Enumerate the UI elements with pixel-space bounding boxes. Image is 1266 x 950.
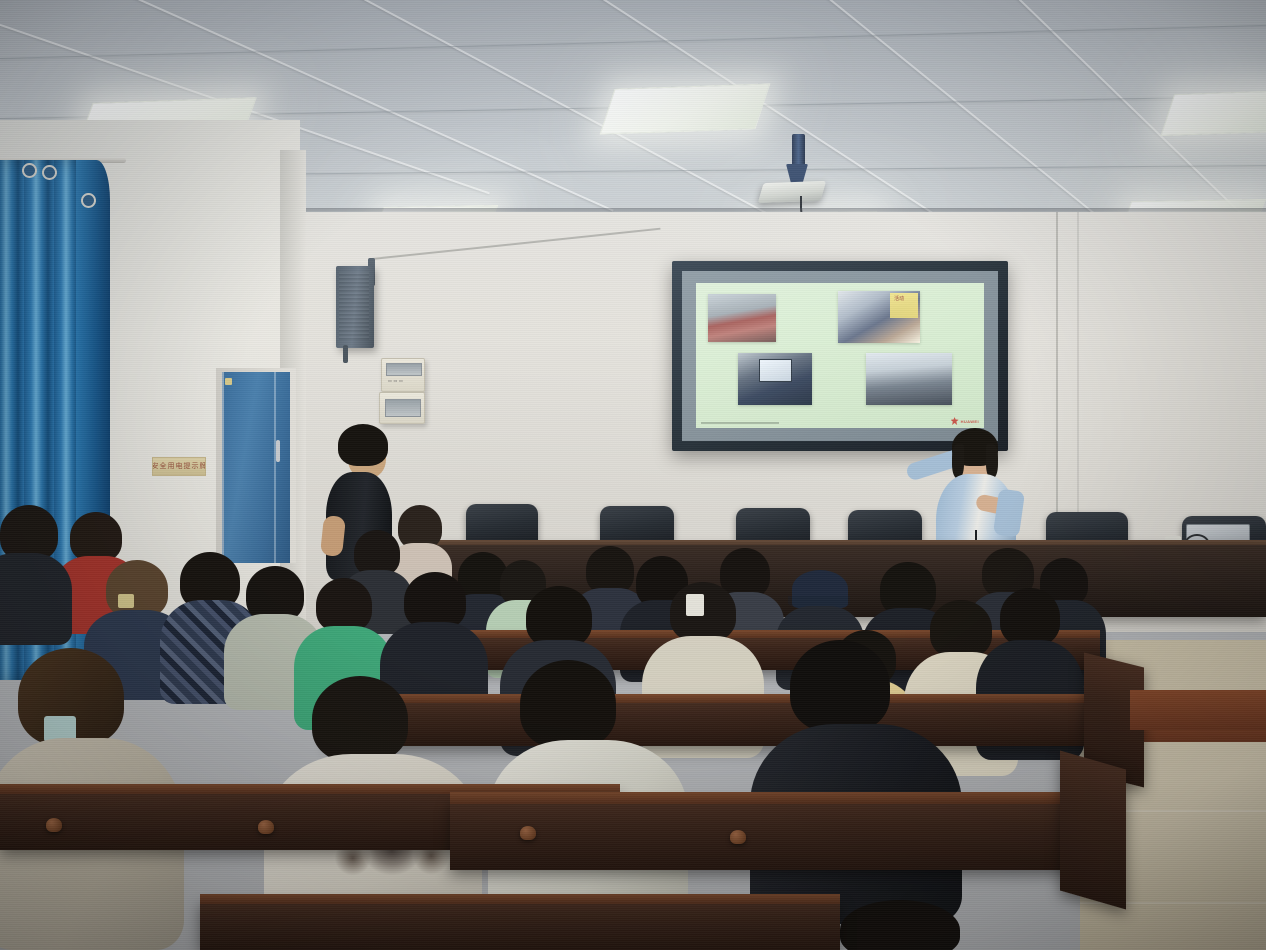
plaque-char: 牌 bbox=[200, 463, 207, 470]
slide-caption-bar bbox=[701, 422, 779, 424]
audience-bench-row bbox=[200, 900, 840, 950]
audience-hair bbox=[1000, 588, 1060, 646]
audience-torso bbox=[0, 553, 72, 645]
curtain-grommet bbox=[22, 163, 37, 178]
bench-knob bbox=[730, 830, 746, 844]
hair-clip bbox=[118, 594, 134, 608]
audience-hair bbox=[520, 660, 616, 748]
bench-rail bbox=[400, 630, 1100, 638]
banner-text: 活动 bbox=[894, 297, 904, 302]
presenter-sleeve bbox=[993, 488, 1025, 537]
slide-inner-screen bbox=[759, 359, 792, 382]
bench-front-panel bbox=[1130, 690, 1266, 730]
slide-photo-4 bbox=[866, 353, 952, 405]
audience-hair bbox=[720, 548, 770, 598]
hair-clip bbox=[686, 594, 704, 616]
bench-knob bbox=[46, 818, 62, 832]
plaque-char: 电 bbox=[176, 463, 183, 470]
presenter-hair-side bbox=[986, 444, 998, 478]
slide-photo-2: 活动 bbox=[838, 291, 920, 343]
audience-hair bbox=[790, 640, 890, 732]
projector-mount-pole bbox=[792, 134, 805, 168]
plaque-char: 全 bbox=[160, 463, 167, 470]
lecture-hall-photo: 安 全 用 电 提 示 牌 ▭ ▭ ▭ 活动 bbox=[0, 0, 1266, 950]
bench-knob bbox=[258, 820, 274, 834]
curtain-grommet bbox=[42, 165, 57, 180]
ceiling-light-panel bbox=[1160, 90, 1266, 136]
plaque-char: 用 bbox=[168, 463, 175, 470]
audience-bench-row bbox=[450, 800, 1110, 870]
audience-hair bbox=[312, 676, 408, 762]
audience-hair bbox=[586, 546, 634, 594]
curtain-grommet bbox=[81, 193, 96, 208]
audience-bench-row bbox=[330, 700, 1110, 746]
bench-rail bbox=[200, 894, 840, 904]
wall-plaque: 安 全 用 电 提 示 牌 bbox=[152, 457, 206, 476]
huawei-logo-text: HUAWEI bbox=[961, 419, 979, 424]
slide-photo-1 bbox=[708, 294, 776, 342]
door-stile bbox=[274, 372, 276, 563]
plaque-char: 安 bbox=[152, 463, 159, 470]
bench-knob bbox=[520, 826, 536, 840]
audience-hair bbox=[316, 578, 372, 632]
standing-man-hair bbox=[338, 424, 388, 466]
classroom-door[interactable] bbox=[222, 372, 290, 563]
bench-rail bbox=[450, 792, 1110, 804]
door-handle[interactable] bbox=[276, 440, 280, 462]
plaque-char: 提 bbox=[184, 463, 191, 470]
slide-photo-3 bbox=[738, 353, 812, 405]
presenter-hair-side bbox=[952, 444, 964, 478]
door-lock-plate bbox=[225, 378, 232, 385]
wall-speaker bbox=[336, 266, 374, 348]
audience-hair bbox=[70, 512, 122, 562]
audience-bench-row bbox=[1060, 751, 1126, 910]
audience-hair bbox=[526, 586, 592, 648]
bench-rail bbox=[330, 694, 1110, 703]
projected-slide: 活动 HUAWEI bbox=[696, 283, 984, 428]
projection-screen[interactable]: 活动 HUAWEI bbox=[672, 261, 1008, 451]
plaque-char: 示 bbox=[192, 463, 199, 470]
slide-banner: 活动 bbox=[890, 293, 918, 318]
ceiling-light-panel bbox=[600, 83, 771, 134]
electrical-panel-upper[interactable]: ▭ ▭ ▭ bbox=[381, 358, 425, 392]
audience-hair bbox=[930, 600, 992, 658]
speaker-stem bbox=[343, 345, 348, 363]
